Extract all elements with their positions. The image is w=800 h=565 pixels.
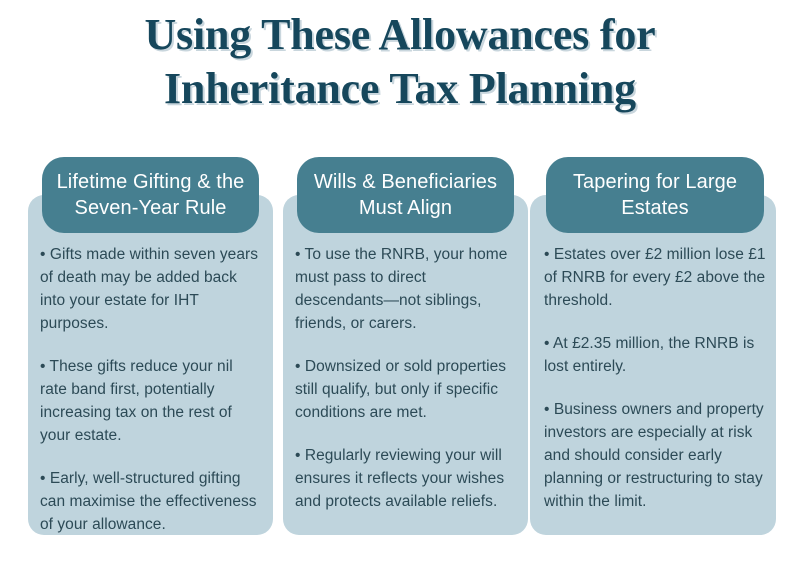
list-item: • Early, well-structured gifting can max… [40,467,259,536]
card-wills-beneficiaries: Wills & Beneficiaries Must Align • To us… [283,157,528,535]
page-title: Using These Allowances for Inheritance T… [0,8,800,116]
card-header-title: Tapering for Large Estates [560,169,750,221]
card-points-list: • Estates over £2 million lose £1 of RNR… [530,243,776,513]
card-header: Tapering for Large Estates [546,157,764,233]
card-lifetime-gifting: Lifetime Gifting & the Seven-Year Rule •… [28,157,273,535]
card-tapering-large-estates: Tapering for Large Estates • Estates ove… [530,157,776,535]
list-item: • Regularly reviewing your will ensures … [295,444,514,513]
card-header-title: Lifetime Gifting & the Seven-Year Rule [56,169,245,221]
list-item: • Downsized or sold properties still qua… [295,355,514,424]
cards-container: Lifetime Gifting & the Seven-Year Rule •… [0,157,800,552]
card-header-title: Wills & Beneficiaries Must Align [311,169,500,221]
page-title-line-2: Inheritance Tax Planning [0,62,800,116]
card-header: Lifetime Gifting & the Seven-Year Rule [42,157,259,233]
card-points-list: • Gifts made within seven years of death… [28,243,273,536]
list-item: • At £2.35 million, the RNRB is lost ent… [544,332,768,378]
card-header: Wills & Beneficiaries Must Align [297,157,514,233]
list-item: • Gifts made within seven years of death… [40,243,259,335]
list-item: • Estates over £2 million lose £1 of RNR… [544,243,768,312]
list-item: • To use the RNRB, your home must pass t… [295,243,514,335]
card-points-list: • To use the RNRB, your home must pass t… [283,243,528,513]
page-title-line-1: Using These Allowances for [0,8,800,62]
list-item: • These gifts reduce your nil rate band … [40,355,259,447]
list-item: • Business owners and property investors… [544,398,768,513]
